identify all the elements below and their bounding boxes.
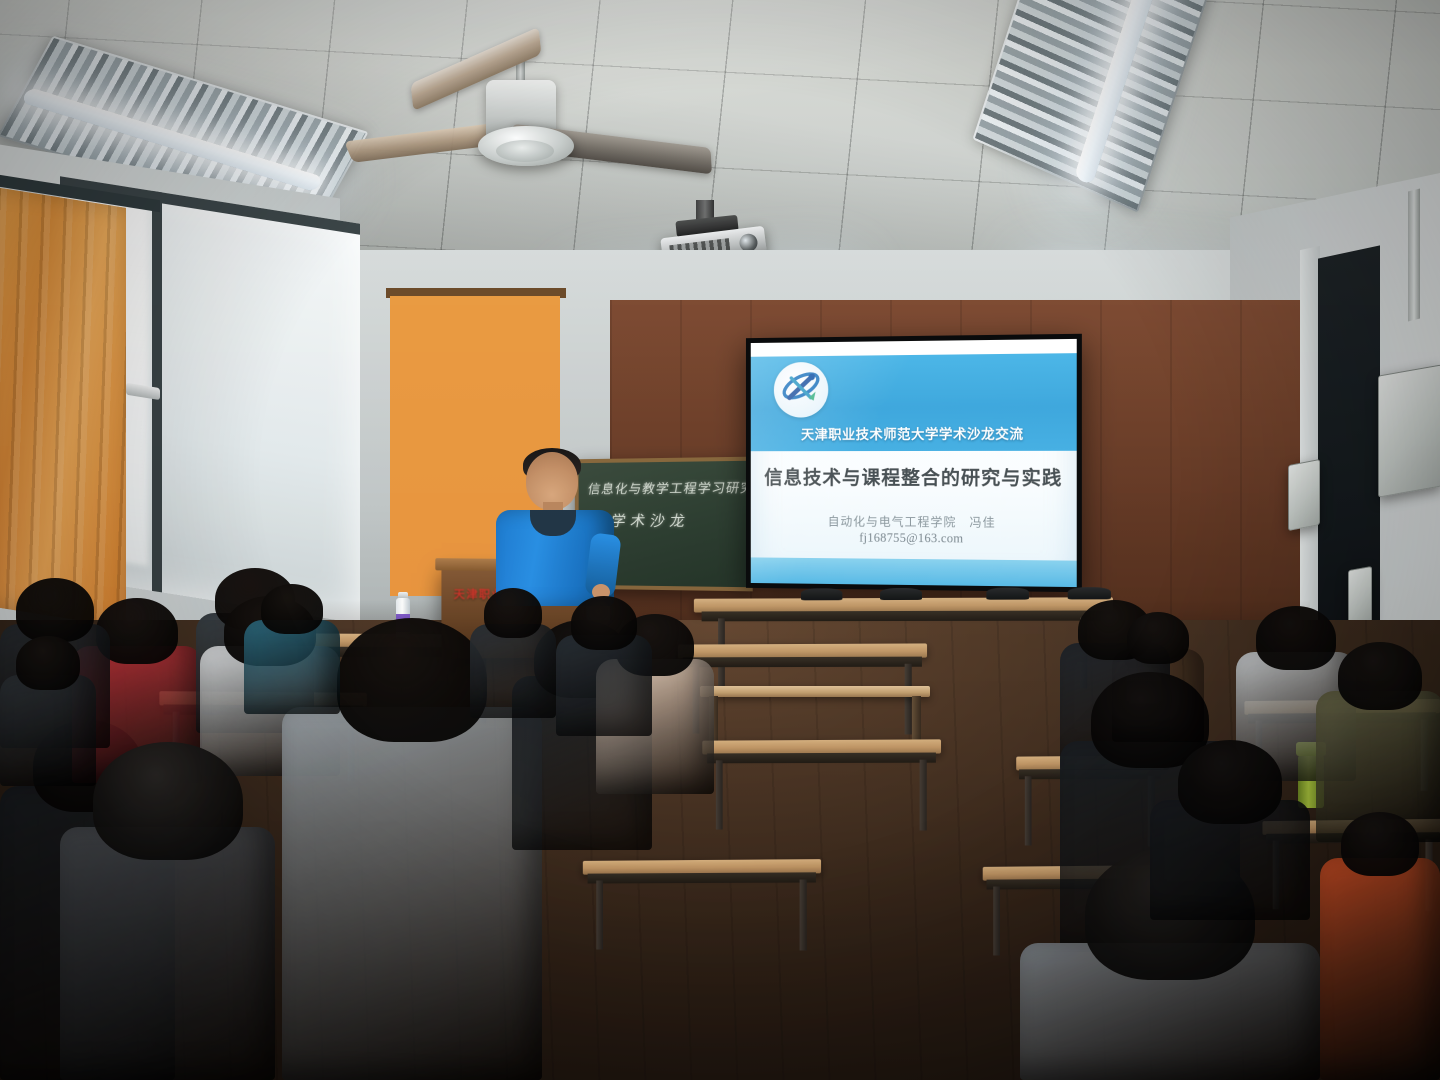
presentation-slide: 天津职业技术师范大学学术沙龙交流 信息技术与课程整合的研究与实践 自动化与电气工… [751,339,1077,587]
presenter [496,452,614,602]
coat [556,635,652,736]
head [1178,740,1282,824]
head [571,596,637,650]
coat [470,624,556,718]
slide-header-band: 天津职业技术师范大学学术沙龙交流 [751,353,1077,451]
electrical-panel[interactable] [1288,459,1320,531]
chalk-text-line-2: 学术沙龙 [610,510,692,531]
student-desk [702,739,941,836]
curtain-left [0,184,126,628]
slide-title: 信息技术与课程整合的研究与实践 [751,463,1077,490]
student-teal-scarf [244,584,340,714]
head [337,618,487,742]
slide-presenter: 自动化与电气工程学院 冯佳 [751,512,1077,531]
head [93,742,243,860]
coat [1320,858,1440,1080]
head [1341,812,1419,876]
coat [0,675,96,786]
student-desk [583,859,821,971]
slide-email: fj168755@163.com [751,530,1077,548]
coat [282,707,542,1080]
student-navy-back [556,596,652,736]
head [16,578,94,642]
head [1127,612,1189,664]
projection-screen: 天津职业技术师范大学学术沙龙交流 信息技术与课程整合的研究与实践 自动化与电气工… [746,334,1082,592]
student-orange-right [1320,812,1440,1080]
head [1338,642,1422,710]
head [484,588,542,638]
conduit-pipe [1408,189,1420,322]
student-left-rear [0,636,96,786]
slide-banner-text: 天津职业技术师范大学学术沙龙交流 [751,422,1077,443]
head [261,584,323,634]
electrical-panel[interactable] [1378,364,1440,497]
student-back-right-wall [1112,612,1204,742]
student-dark-bottom-right [1150,740,1310,920]
coat [60,827,275,1080]
classroom-photo: 信息化与教学工程学习研究 学术沙龙 天津职业技术师范大学学术沙龙交流 信息技术与… [0,0,1440,1080]
student-dark-center [470,588,556,718]
student-gray-fur-hood [60,742,275,1080]
head [16,636,80,690]
coat [244,620,340,714]
ceiling-fan-icon [400,40,730,190]
university-emblem-icon [774,362,828,418]
